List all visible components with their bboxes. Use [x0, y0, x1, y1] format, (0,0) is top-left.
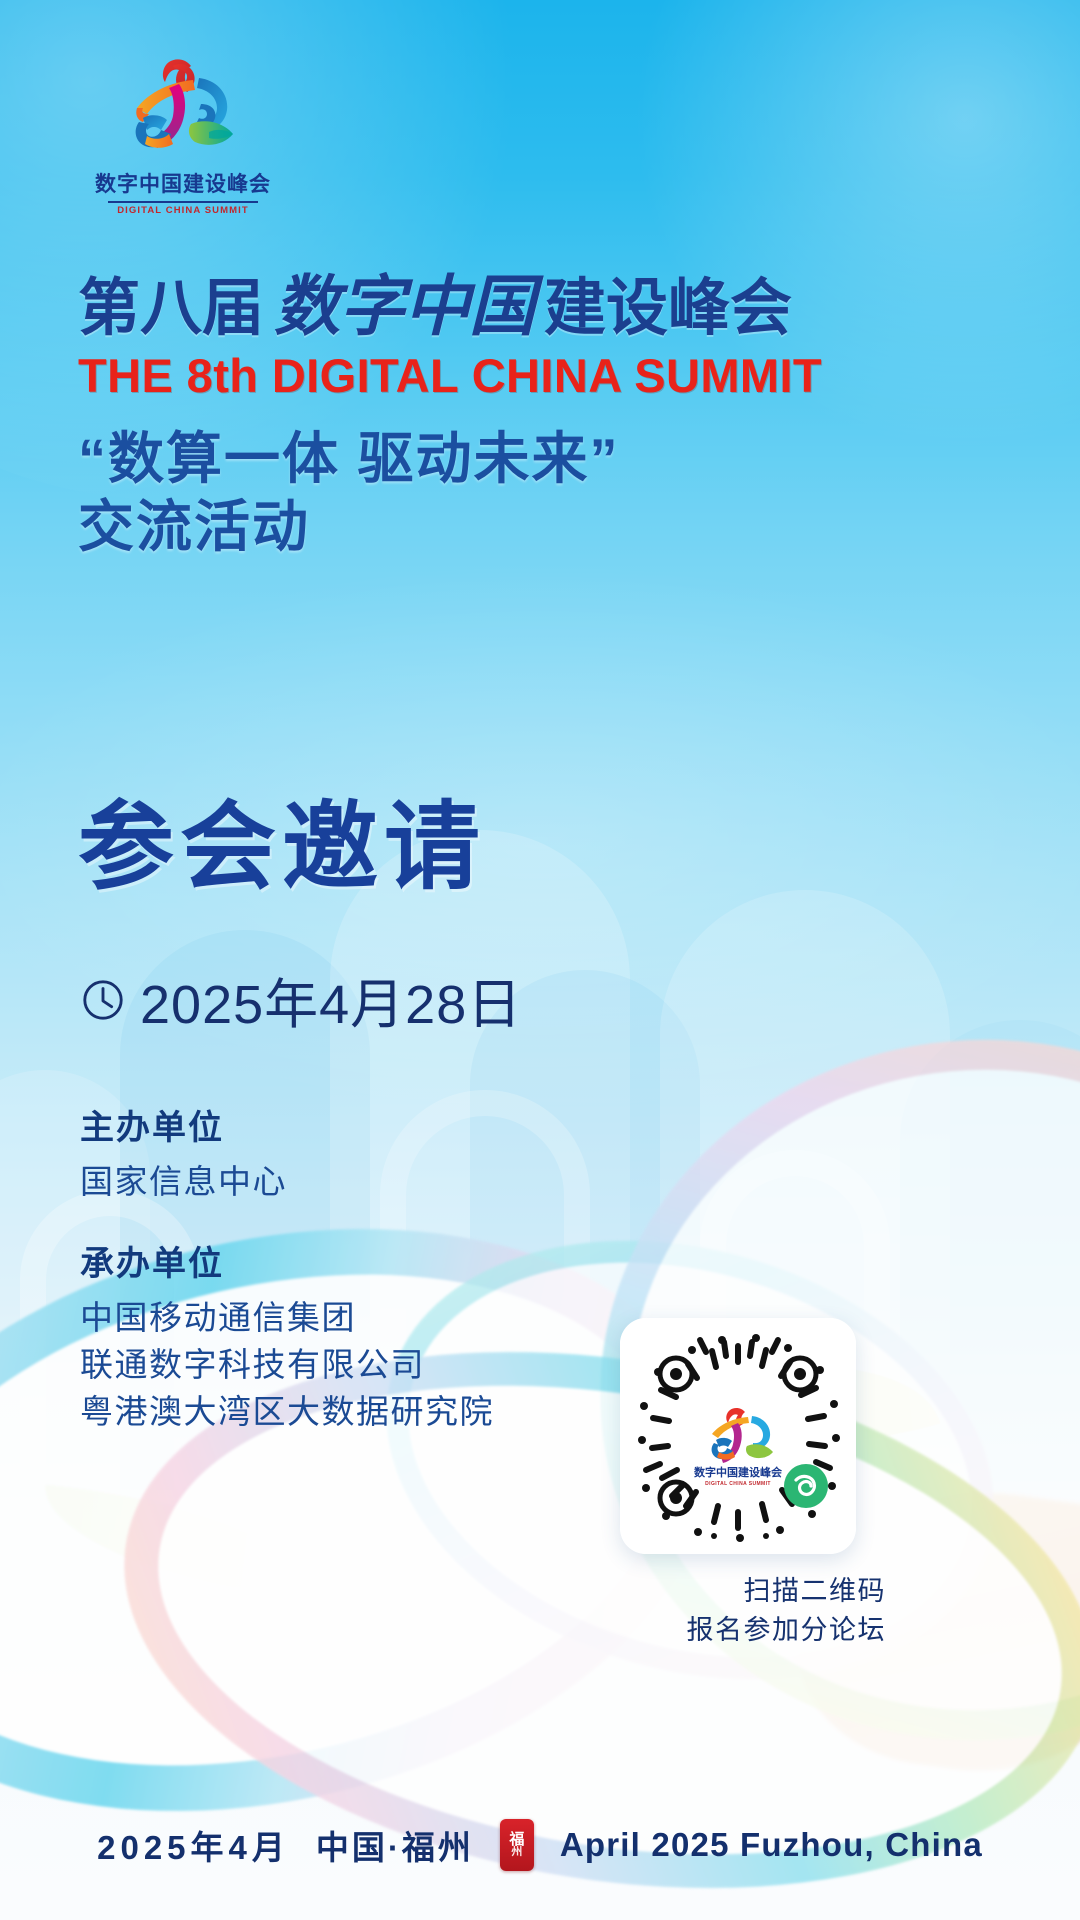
footer-date-cn: 2025年4月: [97, 1821, 290, 1869]
title-block: 第八届 数字中国 建设峰会 THE 8th DIGITAL CHINA SUMM…: [78, 272, 1008, 562]
svg-text:数字中国建设峰会: 数字中国建设峰会: [694, 1465, 783, 1479]
fuzhou-seal-icon: 福 州: [500, 1819, 534, 1871]
poster-canvas: 数字中国建设峰会 DIGITAL CHINA SUMMIT 第八届 数字中国 建…: [0, 0, 1080, 1920]
organizer-heading: 承办单位: [80, 1236, 700, 1285]
background-arch: [900, 1020, 1080, 1490]
title-suffix: 建设峰会: [544, 276, 792, 342]
organizer-heading: 主办单位: [80, 1100, 700, 1149]
qr-caption: 扫描二维码 报名参加分论坛: [596, 1572, 886, 1650]
logo-english-name: DIGITAL CHINA SUMMIT: [78, 205, 288, 216]
footer-city-cn: 中国·福州: [316, 1821, 474, 1869]
clock-icon: [80, 977, 126, 1023]
event-date-row: 2025年4月28日: [80, 960, 522, 1039]
svg-text:DIGITAL CHINA SUMMIT: DIGITAL CHINA SUMMIT: [705, 1481, 771, 1487]
theme-line-2: 交流活动: [78, 493, 1008, 561]
qr-code-icon[interactable]: 数字中国建设峰会 DIGITAL CHINA SUMMIT: [620, 1318, 856, 1554]
organizer-name: 联通数字科技有限公司: [80, 1342, 700, 1389]
seal-char: 福: [509, 1832, 524, 1847]
title-calligraphy: 数字中国: [268, 272, 540, 342]
event-date: 2025年4月28日: [140, 960, 522, 1039]
title-prefix: 第八届: [78, 276, 264, 342]
main-title-english: THE 8th DIGITAL CHINA SUMMIT: [78, 348, 1008, 403]
theme-line-1: “数算一体 驱动未来”: [78, 425, 1008, 493]
qr-code[interactable]: 数字中国建设峰会 DIGITAL CHINA SUMMIT: [620, 1318, 856, 1554]
organizer-name: 中国移动通信集团: [80, 1295, 700, 1342]
digital-china-summit-logo-icon: [113, 52, 253, 162]
footer-bar: 2025年4月 中国·福州 福 州 April 2025 Fuzhou, Chi…: [0, 1770, 1080, 1920]
organizer-group: 承办单位 中国移动通信集团 联通数字科技有限公司 粤港澳大湾区大数据研究院: [80, 1236, 700, 1436]
organizers-section: 主办单位 国家信息中心 承办单位 中国移动通信集团 联通数字科技有限公司 粤港澳…: [80, 1100, 700, 1465]
seal-sub: 州: [511, 1847, 522, 1858]
organizer-group: 主办单位 国家信息中心: [80, 1100, 700, 1206]
organizer-name: 粤港澳大湾区大数据研究院: [80, 1389, 700, 1436]
main-title: 第八届 数字中国 建设峰会: [78, 272, 1008, 342]
footer-date-en: April 2025 Fuzhou, China: [560, 1826, 983, 1864]
wechat-miniprogram-icon: [784, 1464, 828, 1508]
qr-caption-line-2: 报名参加分论坛: [596, 1611, 886, 1650]
qr-caption-line-1: 扫描二维码: [596, 1572, 886, 1611]
organizer-name: 国家信息中心: [80, 1159, 700, 1206]
logo-divider: [108, 201, 258, 203]
green-leaf-shape: [36, 1485, 344, 1606]
logo-chinese-name: 数字中国建设峰会: [78, 168, 288, 198]
invitation-heading: 参会邀请: [78, 800, 486, 896]
summit-logo: 数字中国建设峰会 DIGITAL CHINA SUMMIT: [78, 52, 288, 216]
